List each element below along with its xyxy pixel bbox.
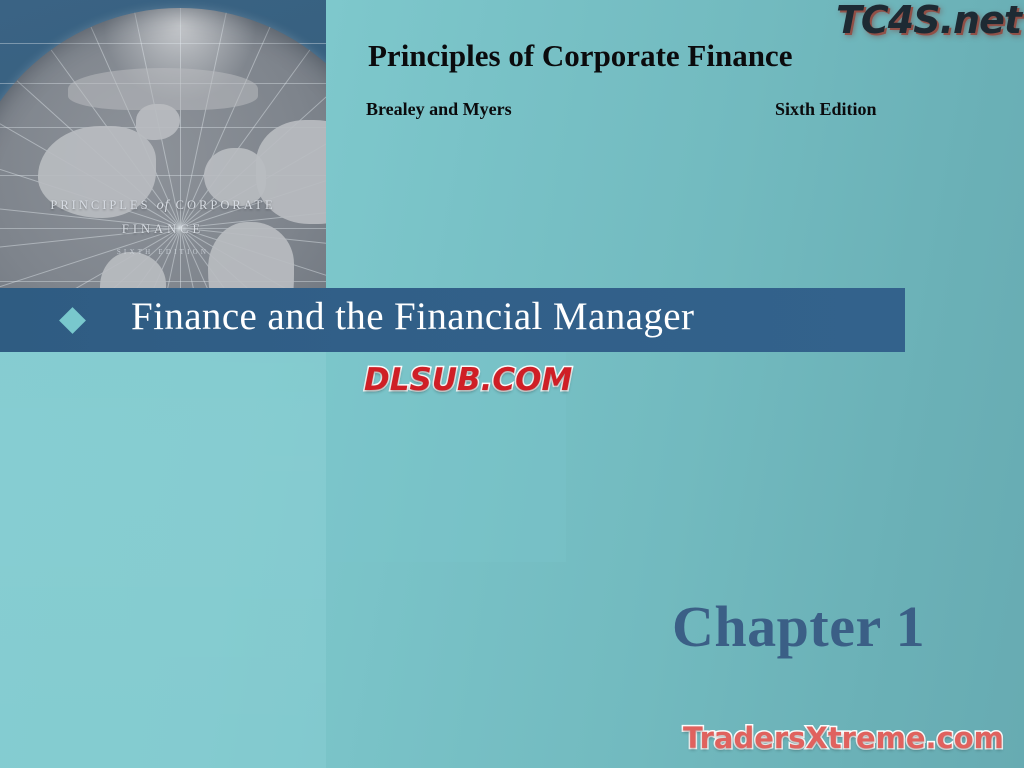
edition-label: Sixth Edition xyxy=(775,99,877,120)
cover-title-corporate: CORPORATE xyxy=(176,198,276,212)
background-band-left xyxy=(0,352,326,768)
watermark-tc4s: TC4S.net xyxy=(836,0,1021,42)
cover-title-of: of xyxy=(157,198,170,213)
globe-graphic xyxy=(0,8,326,288)
cover-title-line-2: FINANCE xyxy=(0,222,326,237)
cover-edition-label: SIXTH EDITION xyxy=(0,248,326,256)
diamond-bullet-icon xyxy=(59,307,86,334)
presentation-slide: PRINCIPLES of CORPORATE FINANCE SIXTH ED… xyxy=(0,0,1024,768)
watermark-tradersxtreme: TradersXtreme.com xyxy=(683,721,1004,755)
watermark-dlsub: DLSUB.COM xyxy=(364,362,572,398)
globe-shading xyxy=(0,8,326,288)
authors-label: Brealey and Myers xyxy=(366,99,512,120)
book-cover-image: PRINCIPLES of CORPORATE FINANCE SIXTH ED… xyxy=(0,0,326,288)
slide-title-bar: Finance and the Financial Manager xyxy=(0,288,905,352)
page-title: Principles of Corporate Finance xyxy=(368,38,792,74)
slide-title-text: Finance and the Financial Manager xyxy=(131,294,694,339)
cover-title-line-1: PRINCIPLES of CORPORATE xyxy=(0,198,326,214)
chapter-label: Chapter 1 xyxy=(672,593,925,660)
cover-title-principles: PRINCIPLES xyxy=(50,198,150,212)
